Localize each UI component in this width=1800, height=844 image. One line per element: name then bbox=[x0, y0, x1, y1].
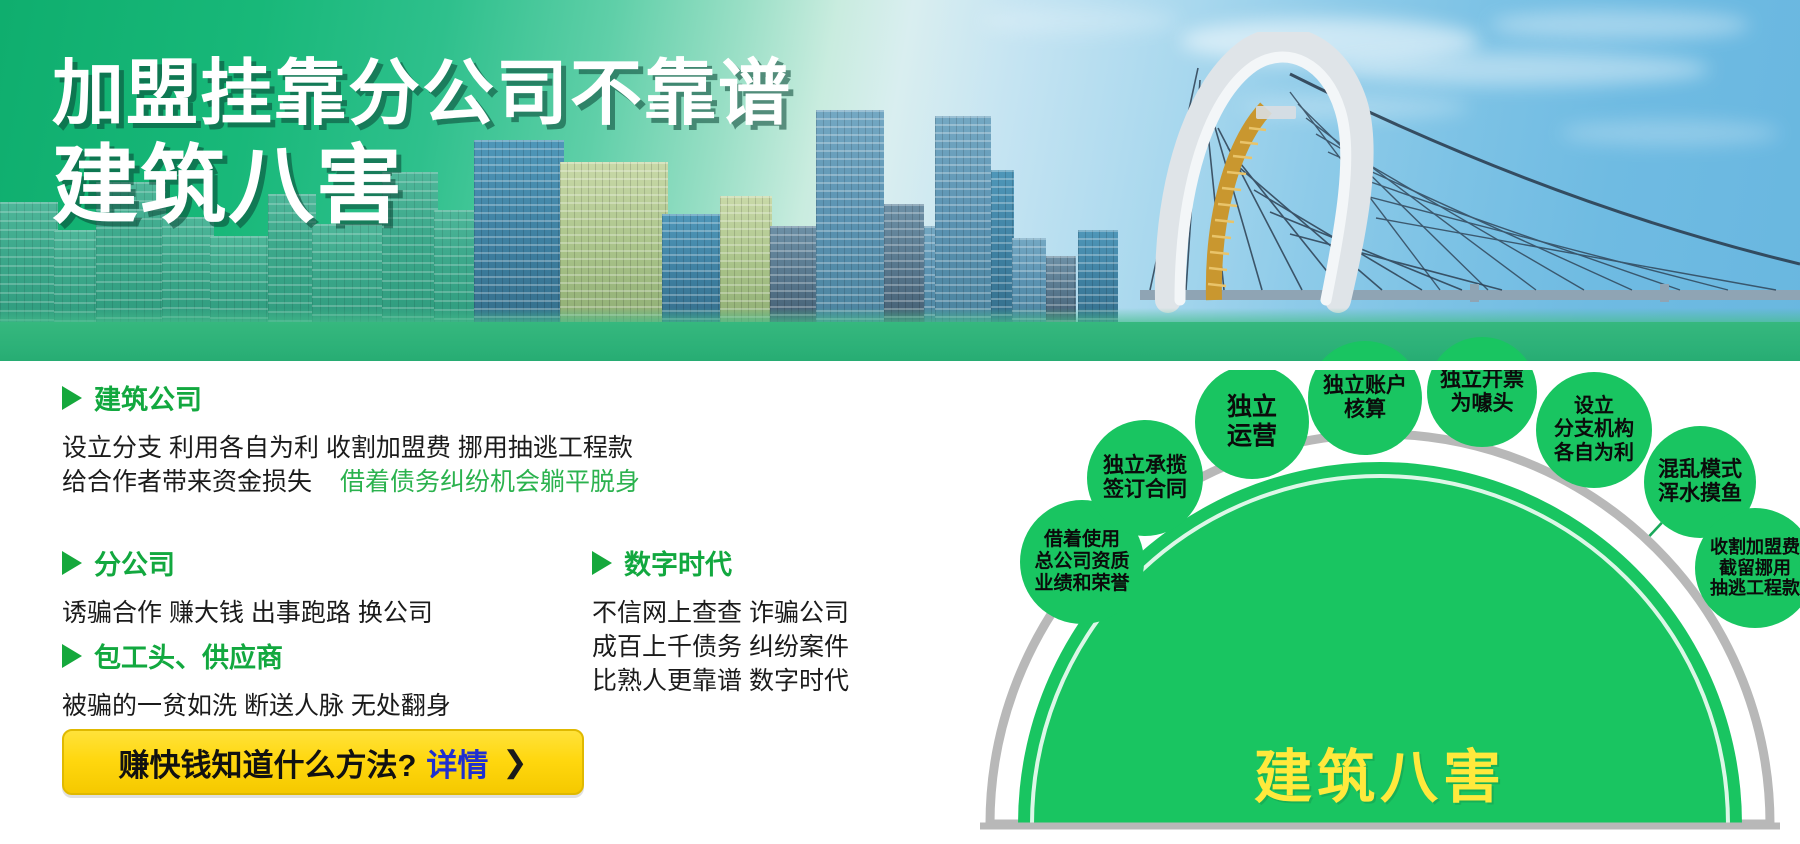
section-heading: 分公司 bbox=[62, 543, 433, 582]
triangle-marker-icon bbox=[592, 551, 612, 575]
section-title: 包工头、供应商 bbox=[94, 636, 283, 675]
dome-diagram: 建筑八害 借着使用总公司资质业绩和荣誉独立承揽签订合同独立运营独立账户核算独立开… bbox=[900, 330, 1800, 844]
triangle-marker-icon bbox=[62, 386, 82, 410]
section-body: 设立分支 利用各自为利 收割加盟费 挪用抽逃工程款 给合作者带来资金损失借着债务… bbox=[62, 431, 640, 499]
skyline-tower bbox=[816, 110, 884, 322]
skyline-building bbox=[0, 202, 58, 322]
bubble-independent-contract[interactable]: 独立承揽签订合同 bbox=[1087, 420, 1203, 536]
section-title: 数字时代 bbox=[624, 543, 732, 582]
bubble-label: 独立开票为噱头 bbox=[1440, 368, 1524, 417]
bubble-label: 收割加盟费截留挪用抽逃工程款 bbox=[1710, 537, 1800, 600]
liede-bridge-illustration bbox=[1140, 32, 1800, 322]
bubble-label: 独立账户核算 bbox=[1323, 374, 1407, 423]
bubble-label: 混乱模式浑水摸鱼 bbox=[1658, 458, 1742, 507]
bubble-label: 设立分支机构各自为利 bbox=[1554, 395, 1634, 465]
section-line-accent: 借着债务纠纷机会躺平脱身 bbox=[340, 468, 640, 496]
hero-bottom-divider bbox=[0, 361, 1800, 370]
section-body: 不信网上查查 诈骗公司 成百上千债务 纠纷案件 比熟人更靠谱 数字时代 bbox=[592, 596, 849, 698]
section-line: 给合作者带来资金损失借着债务纠纷机会躺平脱身 bbox=[62, 465, 640, 499]
chevron-right-icon: ❯ bbox=[502, 745, 527, 780]
skyline-tower bbox=[935, 116, 991, 322]
headline-line-1: 加盟挂靠分公司不靠谱 bbox=[52, 58, 792, 131]
section-contractor-supplier: 包工头、供应商 被骗的一贫如洗 断送人脉 无处翻身 bbox=[62, 636, 451, 723]
cta-details-link[interactable]: 详情 bbox=[426, 740, 488, 785]
section-line: 成百上千债务 纠纷案件 bbox=[592, 630, 849, 664]
section-line: 诱骗合作 赚大钱 出事跑路 换公司 bbox=[62, 596, 433, 630]
section-construction-company: 建筑公司 设立分支 利用各自为利 收割加盟费 挪用抽逃工程款 给合作者带来资金损… bbox=[62, 378, 640, 499]
headline-line-2: 建筑八害 bbox=[52, 143, 792, 231]
section-line: 设立分支 利用各自为利 收割加盟费 挪用抽逃工程款 bbox=[62, 431, 640, 465]
bubble-label: 借着使用总公司资质业绩和荣誉 bbox=[1034, 529, 1129, 595]
section-title: 建筑公司 bbox=[94, 378, 202, 417]
bubble-setup-branch[interactable]: 设立分支机构各自为利 bbox=[1536, 372, 1652, 488]
bubble-independent-account[interactable]: 独立账户核算 bbox=[1308, 341, 1422, 455]
bubble-independent-invoice[interactable]: 独立开票为噱头 bbox=[1427, 337, 1537, 447]
triangle-marker-icon bbox=[62, 644, 82, 668]
infographic-page: 加盟挂靠分公司不靠谱 建筑八害 建筑公司 设立分支 利用各自为利 收割加盟费 挪… bbox=[0, 0, 1800, 844]
hero-banner: 加盟挂靠分公司不靠谱 建筑八害 bbox=[0, 0, 1800, 370]
section-branch-company: 分公司 诱骗合作 赚大钱 出事跑路 换公司 bbox=[62, 543, 433, 630]
section-body: 诱骗合作 赚大钱 出事跑路 换公司 bbox=[62, 596, 433, 630]
section-heading: 建筑公司 bbox=[62, 378, 640, 417]
section-line: 比熟人更靠谱 数字时代 bbox=[592, 664, 849, 698]
dome-center-label: 建筑八害 bbox=[1254, 730, 1506, 814]
section-body: 被骗的一贫如洗 断送人脉 无处翻身 bbox=[62, 689, 451, 723]
bubble-independent-operation[interactable]: 独立运营 bbox=[1195, 365, 1309, 479]
section-heading: 数字时代 bbox=[592, 543, 849, 582]
triangle-marker-icon bbox=[62, 551, 82, 575]
hero-headline: 加盟挂靠分公司不靠谱 建筑八害 bbox=[52, 58, 792, 231]
section-line: 不信网上查查 诈骗公司 bbox=[592, 596, 849, 630]
bubble-label: 独立承揽签订合同 bbox=[1103, 454, 1187, 503]
cta-question-label: 赚快钱知道什么方法? bbox=[118, 740, 416, 785]
skyline-tower bbox=[884, 204, 924, 322]
left-content-column: 建筑公司 设立分支 利用各自为利 收割加盟费 挪用抽逃工程款 给合作者带来资金损… bbox=[0, 378, 900, 844]
section-digital-era: 数字时代 不信网上查查 诈骗公司 成百上千债务 纠纷案件 比熟人更靠谱 数字时代 bbox=[592, 543, 849, 698]
bubble-label: 独立运营 bbox=[1227, 393, 1277, 451]
cta-button[interactable]: 赚快钱知道什么方法? 详情 ❯ bbox=[62, 729, 584, 795]
section-heading: 包工头、供应商 bbox=[62, 636, 451, 675]
section-title: 分公司 bbox=[94, 543, 175, 582]
cloud-decoration bbox=[980, 8, 1180, 34]
section-line-text: 给合作者带来资金损失 bbox=[62, 468, 312, 496]
section-line: 被骗的一贫如洗 断送人脉 无处翻身 bbox=[62, 689, 451, 723]
